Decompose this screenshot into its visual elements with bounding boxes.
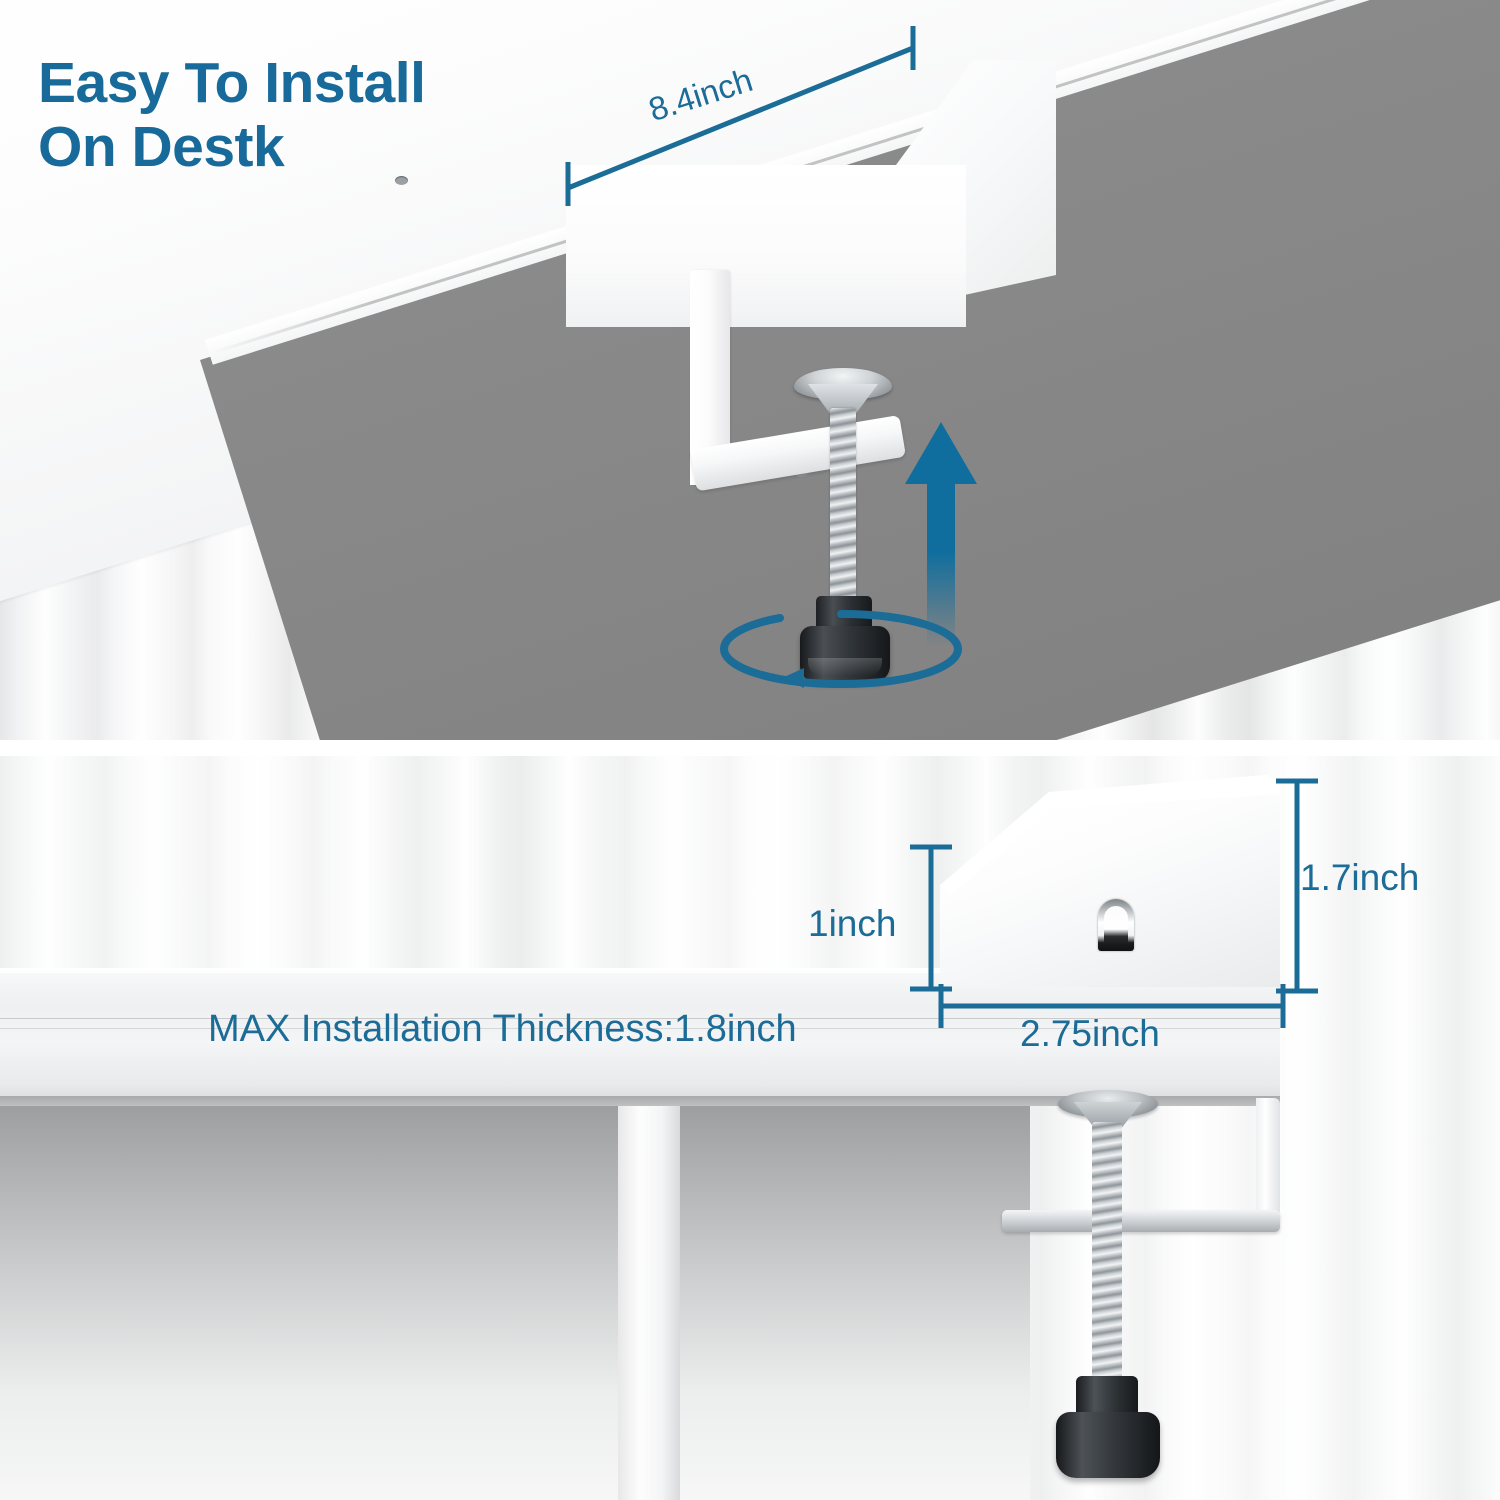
desk-leg (618, 1104, 680, 1500)
infographic-canvas: 8.4inch Easy To Install On Destk (0, 0, 1500, 1500)
dimension-line-1inch (900, 842, 960, 994)
dimension-label-1inch: 1inch (808, 903, 896, 945)
bottom-panel: 1inch 1.7inch 2.75inch MAX Installation … (0, 756, 1500, 1500)
knob-body (1056, 1412, 1160, 1478)
bracket-slot-inner (1104, 906, 1128, 946)
screw-threaded-rod (1092, 1122, 1122, 1387)
headline-line-2: On Destk (38, 116, 425, 180)
rotation-arrow-icon (716, 606, 966, 692)
dimension-line-8-4inch (540, 10, 970, 220)
clamp-screw-assembly (1020, 1090, 1180, 1490)
page-headline: Easy To Install On Destk (38, 52, 425, 180)
dimension-label-1-7inch: 1.7inch (1300, 857, 1419, 899)
top-panel: 8.4inch Easy To Install On Destk (0, 0, 1500, 740)
clamp-vertical-return (1256, 1098, 1280, 1216)
panel-divider (0, 740, 1500, 756)
headline-line-1: Easy To Install (38, 51, 425, 115)
under-desk-area (0, 1104, 1030, 1500)
max-thickness-label: MAX Installation Thickness:1.8inch (208, 1008, 797, 1051)
screw-threaded-rod (830, 408, 856, 608)
dimension-label-2-75inch: 2.75inch (1020, 1013, 1160, 1055)
